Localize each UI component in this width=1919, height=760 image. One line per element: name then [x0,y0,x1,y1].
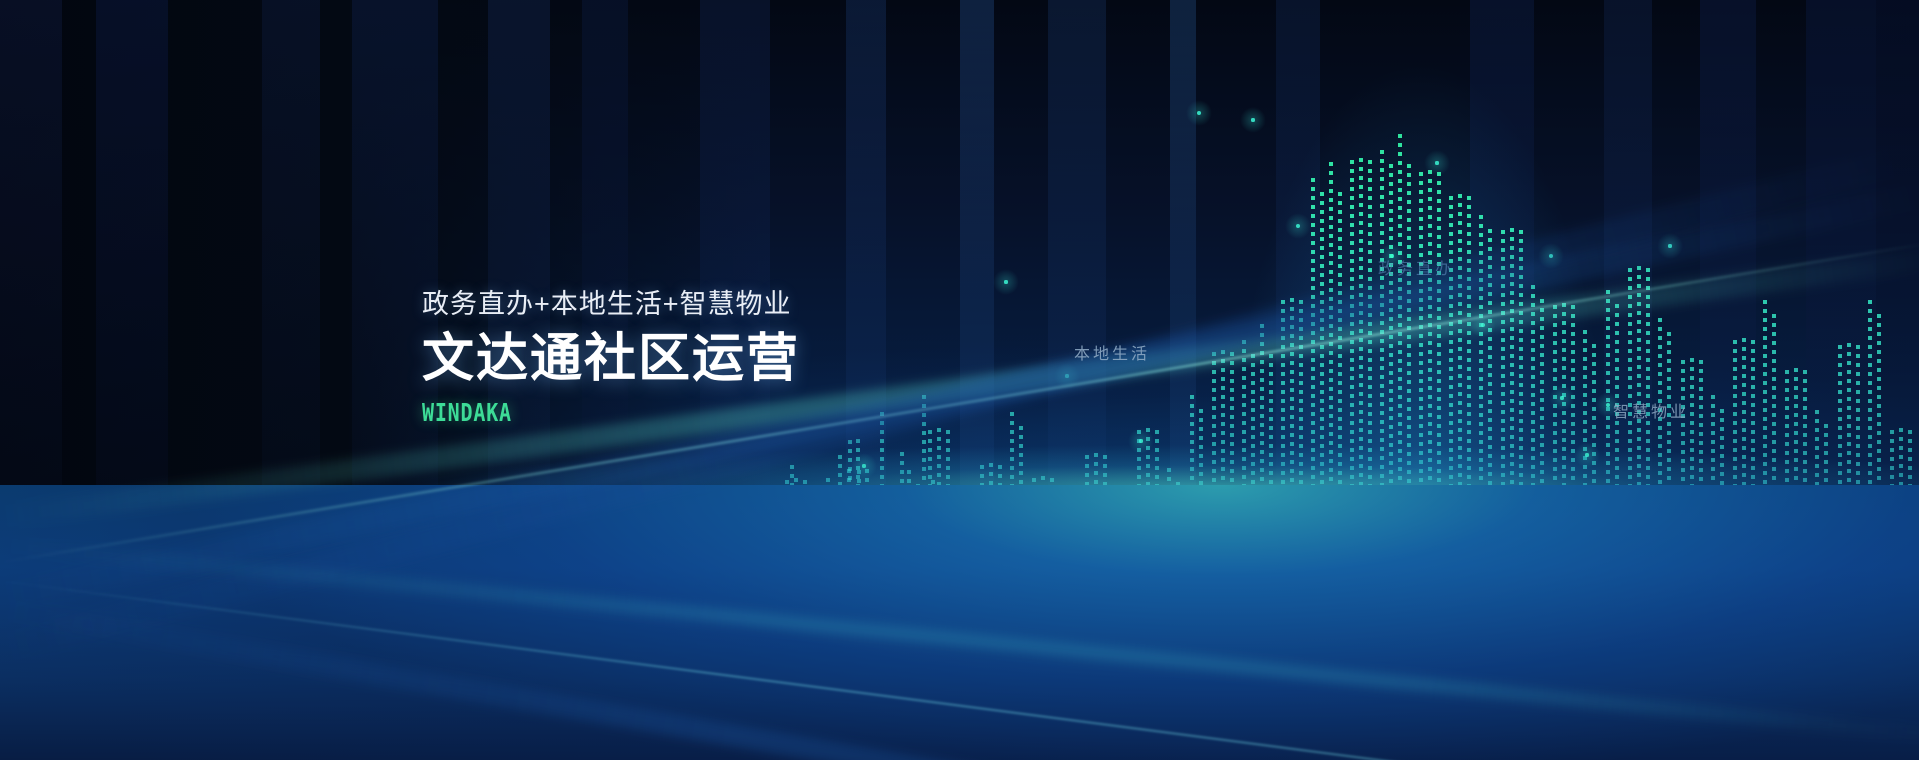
city-label-1: 政务直办 [1378,255,1454,279]
road-streak [0,538,1919,743]
city-label-3: 智慧物业 [1613,398,1689,422]
road-streak [0,598,1919,760]
road-streak [0,580,1919,760]
city-label-2: 本地生活 [1074,340,1150,364]
brand-wordmark: WINDAKA [422,398,724,427]
hero-banner: 政务直办本地生活智慧物业 政务直办+本地生活+智慧物业 文达通社区运营 WIND… [0,0,1919,760]
hero-copy: 政务直办+本地生活+智慧物业 文达通社区运营 WINDAKA [422,290,800,427]
hero-subtitle: 政务直办+本地生活+智慧物业 [422,290,800,320]
ground-plane [0,485,1919,760]
hero-headline: 文达通社区运营 [422,332,800,387]
